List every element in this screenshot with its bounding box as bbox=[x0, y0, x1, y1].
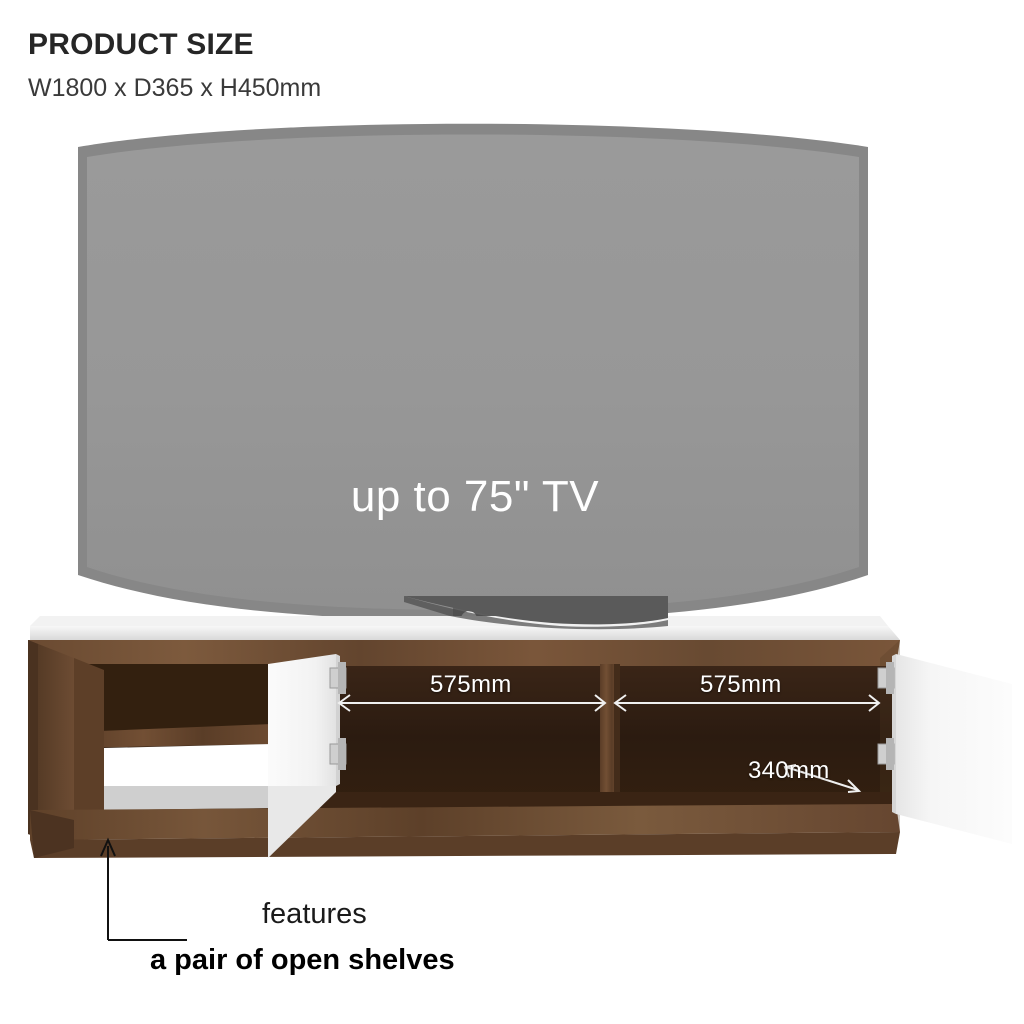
product-dimensions-subtitle: W1800 x D365 x H450mm bbox=[28, 74, 321, 103]
open-shelf-lower-floor bbox=[104, 782, 272, 810]
open-shelf-lower-backpanel bbox=[104, 744, 272, 786]
television: LG up to 75" TV bbox=[60, 120, 890, 630]
right-door-hinge-upper-pin bbox=[886, 662, 894, 694]
cabinet-top-surface bbox=[30, 626, 900, 640]
cabinet-left-outer-edge bbox=[28, 640, 38, 838]
right-door-hinge-lower-pin bbox=[886, 738, 894, 770]
tv-screen bbox=[87, 135, 859, 611]
right-cabinet-door bbox=[896, 654, 1012, 844]
callout-leader-line bbox=[95, 828, 225, 953]
left-door-hinge-lower-pin bbox=[338, 738, 346, 770]
left-door-hinge-upper-pin bbox=[338, 662, 346, 694]
cabinet-center-divider-shade bbox=[614, 664, 620, 810]
callout-text-line1: features bbox=[262, 898, 367, 931]
infographic-canvas: PRODUCT SIZE W1800 x D365 x H450mm bbox=[0, 0, 1024, 1024]
page-title: PRODUCT SIZE bbox=[28, 28, 254, 62]
television-graphic: LG bbox=[60, 120, 890, 630]
callout-text-line2: a pair of open shelves bbox=[150, 944, 455, 977]
cabinet-top-rail bbox=[28, 640, 900, 666]
